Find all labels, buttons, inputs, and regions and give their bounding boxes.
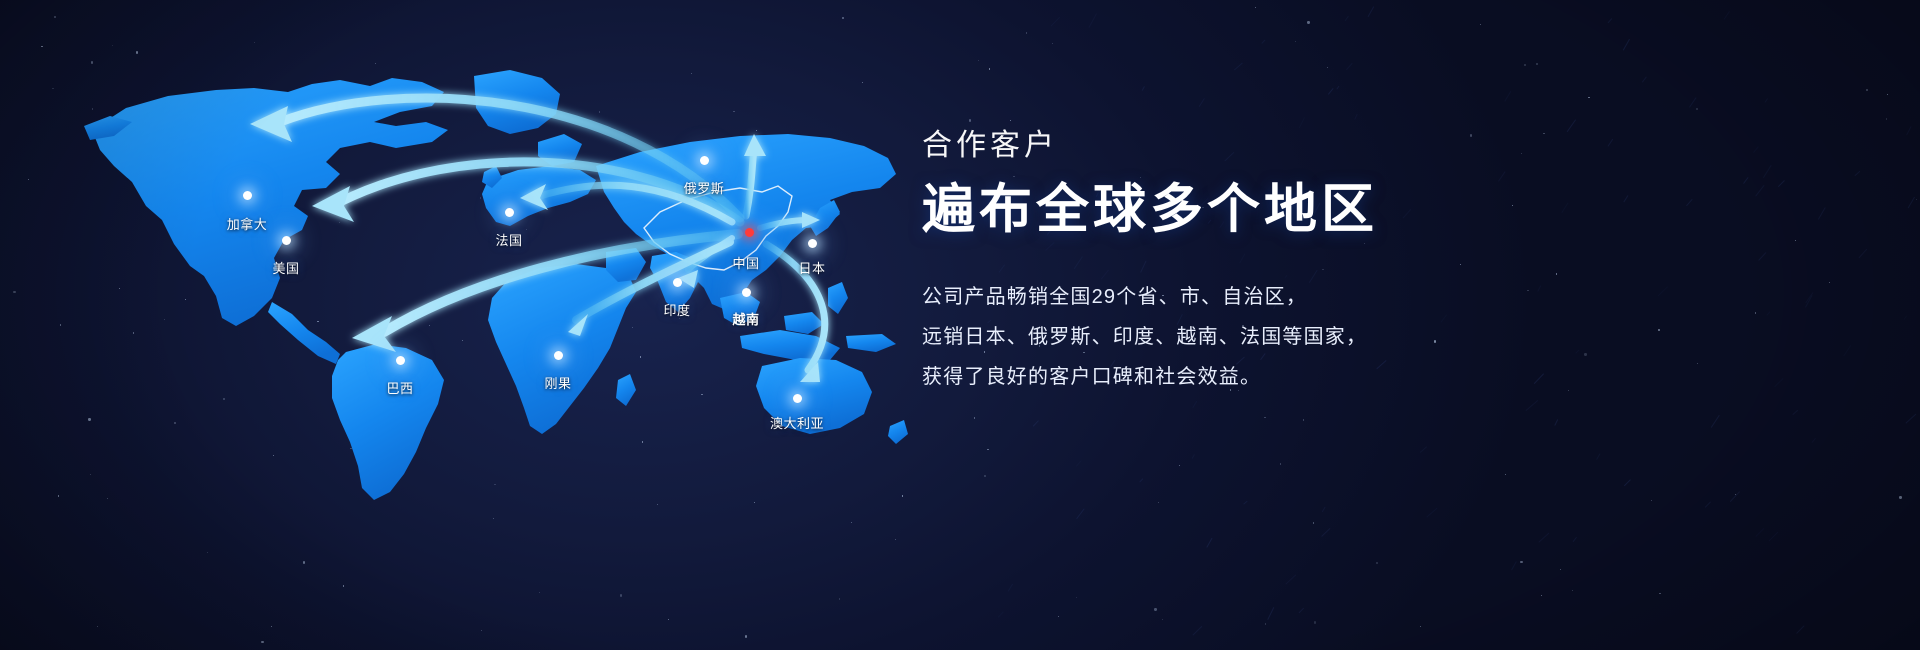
map-label-japan: 日本 [798, 258, 825, 277]
marketing-banner: 加拿大美国巴西法国俄罗斯刚果印度中国日本越南澳大利亚 合作客户 遍布全球多个地区… [0, 0, 1920, 650]
map-marker-russia[interactable] [700, 156, 709, 165]
map-label-russia: 俄罗斯 [684, 178, 725, 197]
map-label-brazil: 巴西 [386, 378, 413, 397]
map-label-congo: 刚果 [544, 373, 571, 392]
madagascar [616, 374, 636, 406]
map-label-india: 印度 [663, 300, 690, 319]
map-marker-vietnam[interactable] [742, 288, 751, 297]
map-label-usa: 美国 [272, 258, 299, 277]
map-marker-usa[interactable] [282, 236, 291, 245]
map-label-france: 法国 [495, 230, 522, 249]
borneo [784, 312, 824, 334]
new-guinea [846, 334, 896, 352]
map-label-china: 中国 [732, 253, 759, 272]
map-marker-australia[interactable] [793, 394, 802, 403]
arrow-head-usa [312, 186, 354, 222]
world-map: 加拿大美国巴西法国俄罗斯刚果印度中国日本越南澳大利亚 [40, 30, 940, 530]
africa [488, 264, 636, 434]
new-zealand [888, 420, 908, 444]
map-label-australia: 澳大利亚 [770, 413, 824, 432]
map-marker-canada[interactable] [243, 191, 252, 200]
world-map-svg [40, 30, 940, 530]
headline-text: 遍布全球多个地区 [922, 180, 1622, 241]
map-label-canada: 加拿大 [227, 214, 268, 233]
central-america [268, 302, 340, 364]
map-marker-japan[interactable] [808, 239, 817, 248]
map-marker-brazil[interactable] [396, 356, 405, 365]
map-marker-congo[interactable] [554, 351, 563, 360]
south-america [332, 344, 444, 500]
philippines [828, 282, 848, 314]
description-line-3: 获得了良好的客户口碑和社会效益。 [922, 357, 1622, 397]
banner-text-panel: 合作客户 遍布全球多个地区 公司产品畅销全国29个省、市、自治区， 远销日本、俄… [922, 128, 1622, 397]
map-marker-india[interactable] [673, 278, 682, 287]
description-line-1: 公司产品畅销全国29个省、市、自治区， [922, 277, 1622, 317]
description-line-2: 远销日本、俄罗斯、印度、越南、法国等国家， [922, 317, 1622, 357]
eyebrow-text: 合作客户 [922, 128, 1622, 164]
map-marker-china[interactable] [745, 228, 754, 237]
description-block: 公司产品畅销全国29个省、市、自治区， 远销日本、俄罗斯、印度、越南、法国等国家… [922, 277, 1622, 397]
map-label-vietnam: 越南 [732, 309, 759, 328]
map-marker-france[interactable] [505, 208, 514, 217]
